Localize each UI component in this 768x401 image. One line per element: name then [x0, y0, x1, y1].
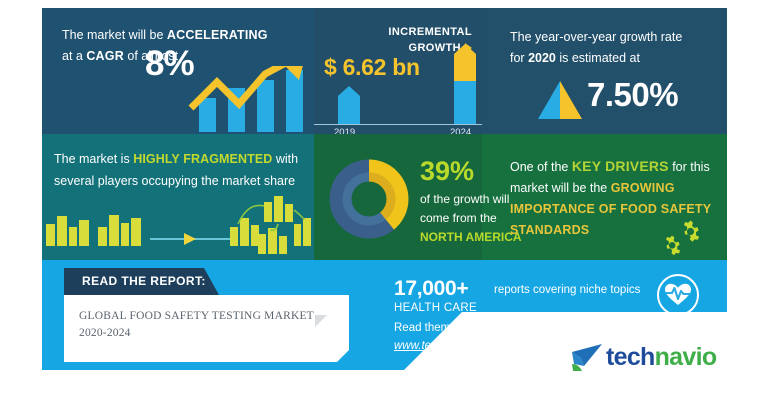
yoy-statement: The year-over-year growth rate for 2020 …	[510, 27, 710, 69]
yoy-line1: The year-over-year growth rate	[510, 30, 682, 44]
building-cluster-right-1	[230, 218, 259, 246]
building-cluster-right-3	[258, 228, 287, 254]
bar-2019-tip	[338, 86, 360, 96]
fragmented-statement: The market is HIGHLY FRAGMENTED with sev…	[54, 148, 314, 192]
link-arc-2	[294, 210, 304, 220]
technavio-wordmark: technavio	[606, 343, 716, 372]
region-donut-chart	[328, 158, 410, 240]
triangle-growth-icon	[538, 81, 582, 119]
yoy-line2-post: is estimated at	[556, 51, 640, 65]
cagr-line2-pre: at a	[62, 49, 86, 63]
region-line1: of the growth will	[420, 192, 509, 206]
building-cluster-left-1	[46, 216, 89, 246]
report-count: 17,000+	[394, 277, 468, 301]
paper-plane-icon	[570, 342, 604, 372]
heart-pulse-icon	[655, 272, 701, 318]
cagr-bar-chart	[187, 66, 312, 132]
bar-2024	[454, 44, 476, 124]
fragmented-highlight: HIGHLY FRAGMENTED	[133, 152, 272, 166]
drivers-growing: GROWING	[611, 181, 675, 195]
infographic-root: The market will be ACCELERATING at a CAG…	[42, 8, 727, 393]
bar-2024-stem-blue	[454, 81, 476, 124]
region-name: NORTH AMERICA	[420, 230, 522, 244]
logo-text-tech: tech	[606, 343, 655, 371]
report-title: GLOBAL FOOD SAFETY TESTING MARKET 2020-2…	[79, 308, 341, 342]
technavio-logo: technavio	[570, 338, 752, 378]
bar-2024-stem-yellow	[454, 54, 476, 81]
report-title-line2: 2020-2024	[79, 327, 131, 339]
yoy-line2-pre: for	[510, 51, 528, 65]
read-report-tab[interactable]: READ THE REPORT:	[64, 268, 219, 295]
axis-label-2019: 2019	[334, 127, 355, 134]
building-cluster-left-2	[98, 215, 141, 246]
incremental-title: INCREMENTAL GROWTH	[332, 24, 472, 56]
report-title-line1: GLOBAL FOOD SAFETY TESTING MARKET	[79, 310, 314, 322]
fragmented-line1-post: with	[272, 152, 298, 166]
fragmented-line1-pre: The market is	[54, 152, 133, 166]
cagr-line1-pre: The market will be	[62, 28, 167, 42]
yoy-value: 7.50%	[587, 76, 678, 114]
drivers-importance: IMPORTANCE OF FOOD SAFETY	[510, 202, 711, 216]
building-cluster-right-4	[294, 218, 311, 246]
drivers-standards: STANDARDS	[510, 223, 589, 237]
incremental-axis-line	[314, 124, 482, 125]
incremental-value: $ 6.62 bn	[324, 54, 420, 81]
bar-2019-stem	[338, 96, 360, 124]
fragmented-line2: several players occupying the market sha…	[54, 174, 295, 188]
drivers-seg4: market will be the	[510, 181, 611, 195]
cagr-line1-strong: ACCELERATING	[167, 28, 268, 42]
logo-text-navio: navio	[655, 343, 717, 371]
region-value: 39%	[420, 156, 474, 187]
cagr-line2-strong: CAGR	[86, 49, 124, 63]
drivers-seg1: One of the	[510, 160, 572, 174]
gears-icon	[654, 220, 700, 256]
row-middle: The market is HIGHLY FRAGMENTED with sev…	[42, 134, 727, 260]
bar-2019	[338, 86, 360, 124]
drivers-seg3: for this	[669, 160, 710, 174]
building-cluster-right-2	[264, 196, 293, 222]
row-top: The market will be ACCELERATING at a CAG…	[42, 8, 727, 134]
arrow-marker-icon	[184, 233, 196, 245]
region-line2: come from the	[420, 211, 497, 225]
yoy-year: 2020	[528, 51, 556, 65]
incremental-title-line1: INCREMENTAL	[388, 26, 472, 38]
axis-label-2024: 2024	[450, 127, 471, 134]
report-count-caption: reports covering niche topics	[494, 284, 640, 296]
market-fragmentation-diagram	[42, 194, 314, 260]
read-report-label: READ THE REPORT:	[82, 274, 206, 288]
drivers-key-highlight: KEY DRIVERS	[572, 158, 669, 174]
report-card[interactable]: GLOBAL FOOD SAFETY TESTING MARKET 2020-2…	[64, 295, 349, 362]
bar-2024-tip	[454, 44, 476, 54]
growth-arrow-icon	[187, 66, 312, 132]
